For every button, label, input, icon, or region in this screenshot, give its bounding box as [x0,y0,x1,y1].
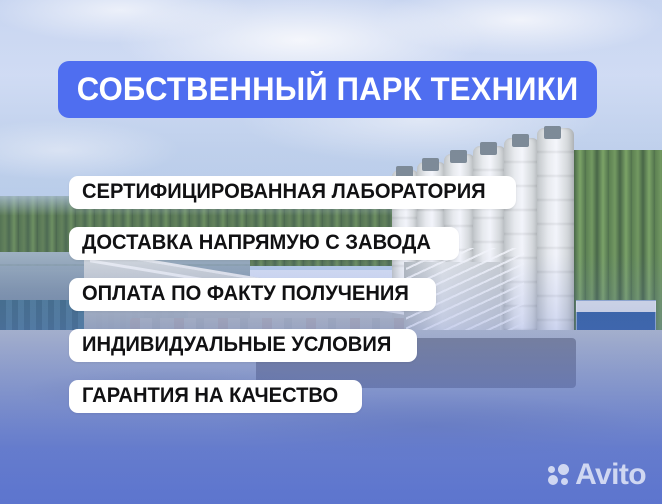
avito-dot [558,464,569,475]
feature-label: ГАРАНТИЯ НА КАЧЕСТВО [82,385,338,407]
feature-pill-payment: ОПЛАТА ПО ФАКТУ ПОЛУЧЕНИЯ [69,278,436,311]
avito-wordmark: Avito [575,460,646,490]
advertisement-image: СОБСТВЕННЫЙ ПАРК ТЕХНИКИ СЕРТИФИЦИРОВАНН… [0,0,662,504]
feature-label: ОПЛАТА ПО ФАКТУ ПОЛУЧЕНИЯ [82,283,409,305]
feature-label: ДОСТАВКА НАПРЯМУЮ С ЗАВОДА [82,232,431,254]
feature-pill-laboratory: СЕРТИФИЦИРОВАННАЯ ЛАБОРАТОРИЯ [69,176,516,209]
feature-list: СЕРТИФИЦИРОВАННАЯ ЛАБОРАТОРИЯ ДОСТАВКА Н… [69,176,516,431]
avito-dot [548,475,558,485]
headline-text: СОБСТВЕННЫЙ ПАРК ТЕХНИКИ [77,71,579,108]
feature-label: ИНДИВИДУАЛЬНЫЕ УСЛОВИЯ [82,334,391,356]
feature-pill-quality: ГАРАНТИЯ НА КАЧЕСТВО [69,380,362,413]
avito-dot [561,478,568,485]
headline-banner: СОБСТВЕННЫЙ ПАРК ТЕХНИКИ [58,61,597,118]
avito-dots-icon [548,464,570,486]
feature-label: СЕРТИФИЦИРОВАННАЯ ЛАБОРАТОРИЯ [82,181,486,203]
avito-dot [548,466,555,473]
feature-pill-terms: ИНДИВИДУАЛЬНЫЕ УСЛОВИЯ [69,329,417,362]
feature-pill-delivery: ДОСТАВКА НАПРЯМУЮ С ЗАВОДА [69,227,459,260]
avito-watermark: Avito [548,460,646,490]
